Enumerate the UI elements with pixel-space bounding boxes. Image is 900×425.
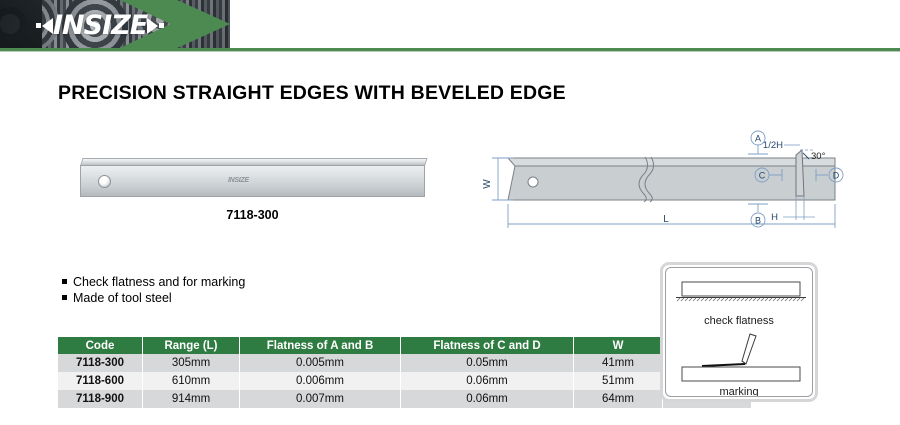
drawing-label-half-h: 1/2H bbox=[763, 140, 783, 151]
cell-range: 914mm bbox=[143, 390, 240, 408]
product-hanging-hole bbox=[98, 175, 111, 188]
list-item: Made of tool steel bbox=[62, 290, 245, 306]
page-header: INSIZE bbox=[0, 0, 900, 52]
surface-marker-a-label: A bbox=[755, 134, 761, 144]
surface-marker-b-label: B bbox=[755, 216, 761, 226]
usage-caption-marking: marking bbox=[666, 386, 812, 397]
cell-w: 51mm bbox=[574, 372, 663, 390]
cell-code: 7118-900 bbox=[58, 390, 143, 408]
product-photo: INSIZE bbox=[80, 158, 425, 198]
dimension-l bbox=[508, 204, 835, 228]
page-title: PRECISION STRAIGHT EDGES WITH BEVELED ED… bbox=[58, 82, 566, 105]
diagram-marking bbox=[682, 334, 800, 381]
cell-w: 41mm bbox=[574, 354, 663, 372]
feature-label: Made of tool steel bbox=[73, 290, 172, 306]
cell-code: 7118-300 bbox=[58, 354, 143, 372]
diagram-check-flatness bbox=[676, 282, 806, 301]
table-row: 7118-600 610mm 0.006mm 0.06mm 51mm 7.9mm bbox=[58, 372, 751, 390]
specification-table: Code Range (L) Flatness of A and B Flatn… bbox=[58, 337, 751, 408]
surface-marker-c-label: C bbox=[759, 171, 766, 181]
drawing-side-view bbox=[508, 157, 835, 202]
technical-drawing: W L A B 1/2H bbox=[470, 128, 890, 238]
drawing-label-l: L bbox=[663, 214, 669, 225]
column-header-range: Range (L) bbox=[143, 337, 240, 354]
table-row: 7118-300 305mm 0.005mm 0.05mm 41mm 6.3mm bbox=[58, 354, 751, 372]
logo-left-bar bbox=[36, 23, 41, 28]
cell-code: 7118-600 bbox=[58, 372, 143, 390]
surface-marker-d-label: D bbox=[833, 171, 840, 181]
column-header-code: Code bbox=[58, 337, 143, 354]
drawing-label-w: W bbox=[482, 179, 493, 189]
usage-illustration-panel: check flatness marking bbox=[660, 262, 818, 402]
feature-list: Check flatness and for marking Made of t… bbox=[62, 274, 245, 306]
table-header-row: Code Range (L) Flatness of A and B Flatn… bbox=[58, 337, 751, 354]
cell-flatness-cd: 0.06mm bbox=[401, 372, 574, 390]
column-header-w: W bbox=[574, 337, 663, 354]
product-engraved-logo: INSIZE bbox=[228, 177, 249, 184]
product-caption: 7118-300 bbox=[80, 208, 425, 222]
cell-flatness-ab: 0.006mm bbox=[240, 372, 401, 390]
insize-logo: INSIZE bbox=[36, 12, 164, 39]
table-row: 7118-900 914mm 0.007mm 0.06mm 64mm 9.5mm bbox=[58, 390, 751, 408]
square-bullet-icon bbox=[62, 279, 67, 284]
column-header-flatness-cd: Flatness of C and D bbox=[401, 337, 574, 354]
cell-flatness-ab: 0.005mm bbox=[240, 354, 401, 372]
logo-right-bar bbox=[159, 23, 164, 28]
cell-flatness-cd: 0.05mm bbox=[401, 354, 574, 372]
cell-range: 305mm bbox=[143, 354, 240, 372]
cell-flatness-cd: 0.06mm bbox=[401, 390, 574, 408]
usage-diagrams bbox=[666, 268, 813, 397]
cell-w: 64mm bbox=[574, 390, 663, 408]
square-bullet-icon bbox=[62, 295, 67, 300]
drawing-label-angle: 30° bbox=[811, 151, 826, 162]
logo-text: INSIZE bbox=[53, 12, 147, 39]
cell-range: 610mm bbox=[143, 372, 240, 390]
header-hairline bbox=[0, 51, 900, 52]
product-body bbox=[80, 165, 425, 197]
list-item: Check flatness and for marking bbox=[62, 274, 245, 290]
usage-panel-inner-border: check flatness marking bbox=[665, 267, 813, 397]
feature-label: Check flatness and for marking bbox=[73, 274, 245, 290]
logo-right-arrow-icon bbox=[147, 18, 158, 34]
usage-caption-check-flatness: check flatness bbox=[666, 315, 812, 327]
drawing-label-h: H bbox=[771, 212, 778, 223]
cell-flatness-ab: 0.007mm bbox=[240, 390, 401, 408]
column-header-flatness-ab: Flatness of A and B bbox=[240, 337, 401, 354]
logo-left-arrow-icon bbox=[42, 18, 53, 34]
